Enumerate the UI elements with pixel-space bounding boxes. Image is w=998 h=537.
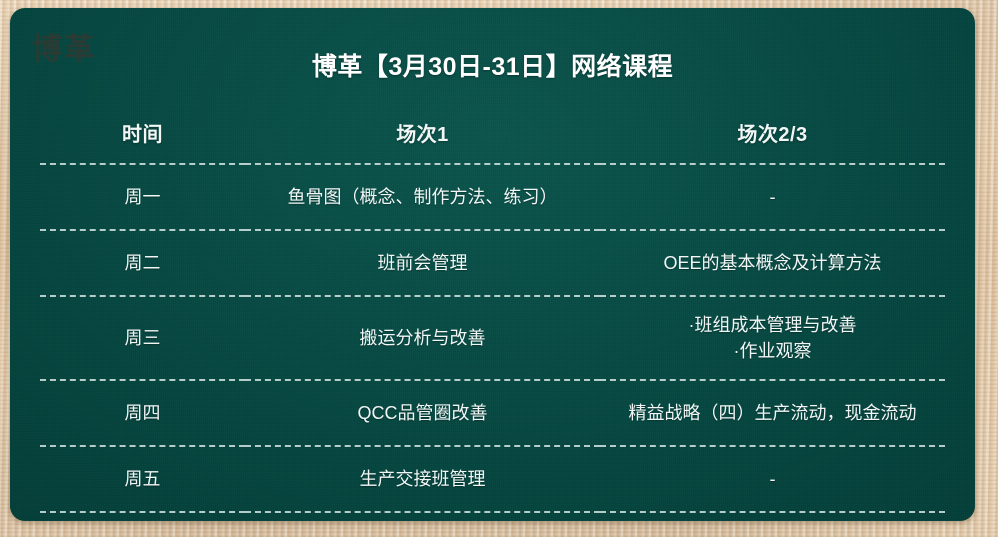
cell-time: 周二 [40, 230, 245, 296]
cell-session23: - [600, 446, 945, 512]
course-schedule-table: 时间 场次1 场次2/3 周一 鱼骨图（概念、制作方法、练习） - 周二 班前会… [40, 101, 945, 513]
table-row: 周四 QCC品管圈改善 精益战略（四）生产流动，现金流动 [40, 380, 945, 446]
cell-session23-line: ·班组成本管理与改善 [604, 312, 941, 338]
table-row: 周五 生产交接班管理 - [40, 446, 945, 512]
cell-time: 周五 [40, 446, 245, 512]
cell-session1: 搬运分析与改善 [245, 296, 600, 380]
page-title: 博革【3月30日-31日】网络课程 [10, 55, 975, 80]
column-header-session1: 场次1 [245, 101, 600, 164]
table-row: 周一 鱼骨图（概念、制作方法、练习） - [40, 164, 945, 230]
cell-session23-line: OEE的基本概念及计算方法 [604, 250, 941, 276]
cell-session1: 鱼骨图（概念、制作方法、练习） [245, 164, 600, 230]
schedule-card: 博革 博革【3月30日-31日】网络课程 时间 场次1 场次2/3 周一 鱼骨图… [10, 8, 975, 521]
table-header: 时间 场次1 场次2/3 [40, 101, 945, 164]
cell-session23: ·班组成本管理与改善 ·作业观察 [600, 296, 945, 380]
cell-session23-line: - [604, 466, 941, 492]
cell-session1: 班前会管理 [245, 230, 600, 296]
cell-session23: OEE的基本概念及计算方法 [600, 230, 945, 296]
table-row: 周三 搬运分析与改善 ·班组成本管理与改善 ·作业观察 [40, 296, 945, 380]
cell-session1: 生产交接班管理 [245, 446, 600, 512]
table-header-row: 时间 场次1 场次2/3 [40, 101, 945, 164]
cell-session23-line: - [604, 184, 941, 210]
cell-time: 周一 [40, 164, 245, 230]
cell-session23: - [600, 164, 945, 230]
column-header-time: 时间 [40, 101, 245, 164]
table-row: 周二 班前会管理 OEE的基本概念及计算方法 [40, 230, 945, 296]
cell-session23-line: ·作业观察 [604, 338, 941, 364]
table-body: 周一 鱼骨图（概念、制作方法、练习） - 周二 班前会管理 OEE的基本概念及计… [40, 164, 945, 512]
cell-session1: QCC品管圈改善 [245, 380, 600, 446]
cell-time: 周四 [40, 380, 245, 446]
cell-session23: 精益战略（四）生产流动，现金流动 [600, 380, 945, 446]
cell-session23-line: 精益战略（四）生产流动，现金流动 [604, 400, 941, 426]
cell-time: 周三 [40, 296, 245, 380]
column-header-session23: 场次2/3 [600, 101, 945, 164]
